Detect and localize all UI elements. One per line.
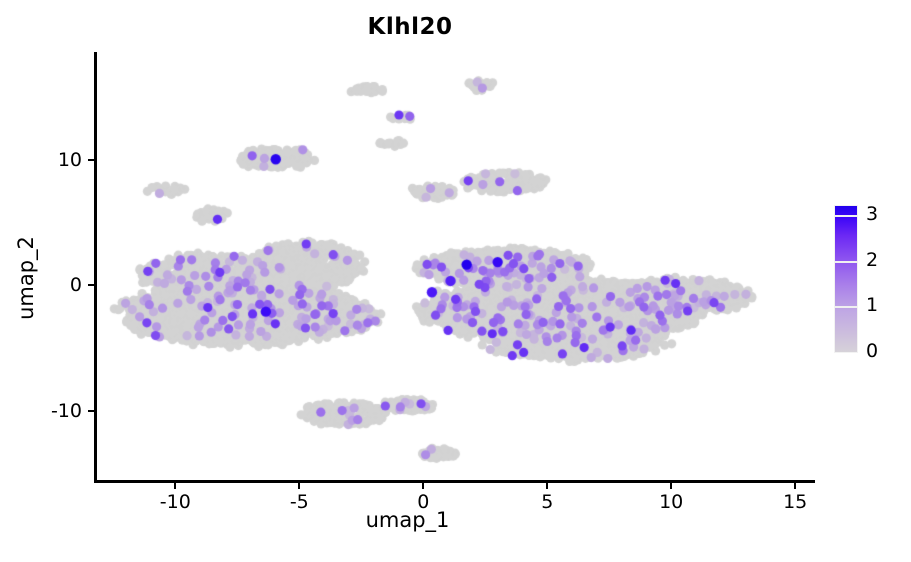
colorbar-tick-label: 0 [866,340,878,362]
y-tick-mark [88,159,94,161]
colorbar-tick-label: 2 [866,249,878,271]
y-tick-label: 0 [0,274,82,296]
colorbar-gradient [834,205,858,353]
y-tick-mark [88,284,94,286]
umap-feature-plot: Klhl20 -10-5051015100-10 umap_1 umap_2 3… [0,0,911,562]
scatter-canvas [96,52,815,481]
x-tick-mark [174,483,176,489]
y-axis-spine [94,52,97,483]
colorbar-tick-mark [835,306,857,308]
y-tick-label: -10 [0,400,82,422]
colorbar-tick-mark [835,215,857,217]
x-tick-mark [670,483,672,489]
x-tick-mark [794,483,796,489]
y-tick-mark [88,410,94,412]
x-tick-mark [422,483,424,489]
colorbar: 3210 [834,205,858,353]
x-tick-mark [298,483,300,489]
colorbar-tick-label: 1 [866,294,878,316]
y-tick-label: 10 [0,149,82,171]
x-axis-spine [94,480,815,483]
colorbar-tick-mark [835,261,857,263]
plot-title: Klhl20 [0,14,820,40]
y-axis-label: umap_2 [14,208,38,348]
colorbar-tick-label: 3 [866,203,878,225]
x-tick-mark [546,483,548,489]
x-axis-label: umap_1 [0,508,815,532]
